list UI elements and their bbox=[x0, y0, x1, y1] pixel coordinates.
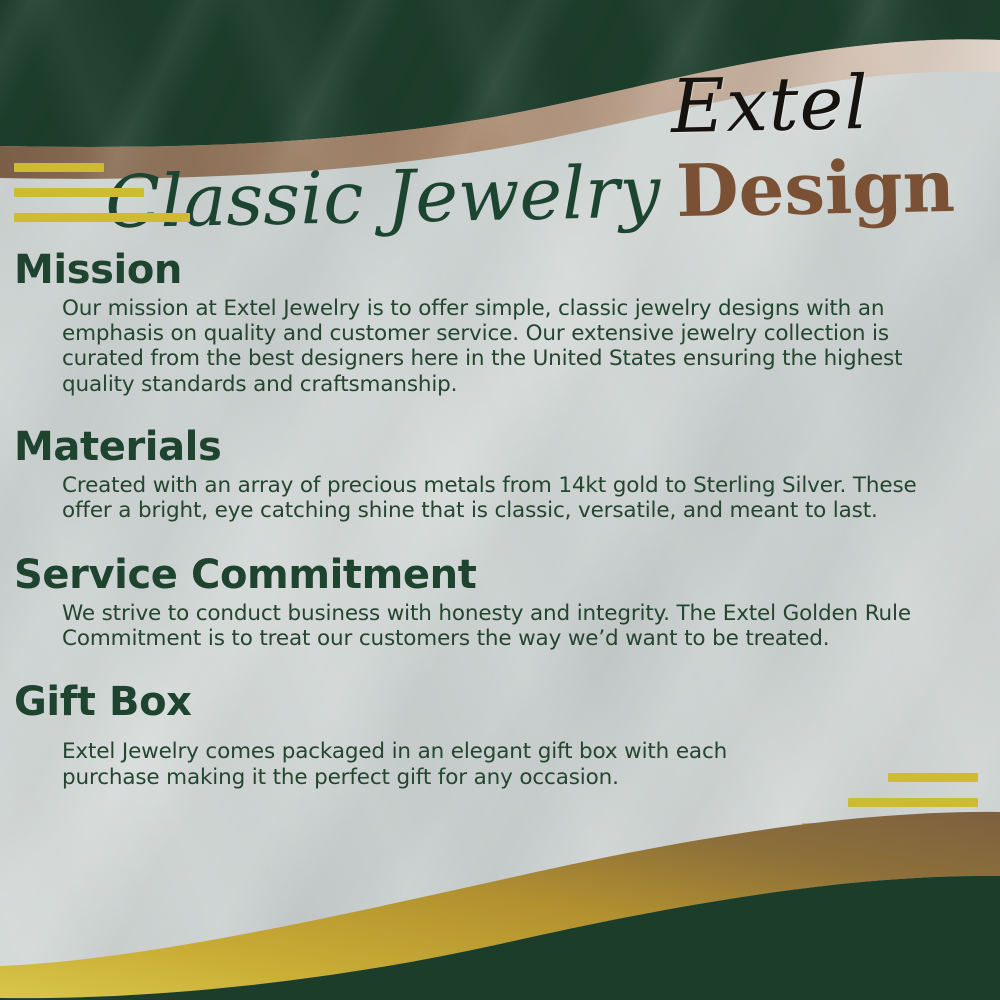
section-service-commitment: Service Commitment We strive to conduct … bbox=[0, 553, 1000, 651]
title-design: Design bbox=[675, 143, 955, 233]
section-heading: Service Commitment bbox=[14, 553, 1000, 599]
brand-script-logo: Extel bbox=[599, 64, 940, 145]
decorative-lines-top-left bbox=[14, 163, 190, 238]
section-body: Our mission at Extel Jewelry is to offer… bbox=[62, 296, 972, 397]
section-materials: Materials Created with an array of preci… bbox=[0, 425, 1000, 523]
section-heading: Mission bbox=[14, 248, 1000, 294]
section-mission: Mission Our mission at Extel Jewelry is … bbox=[0, 248, 1000, 397]
section-body: We strive to conduct business with hones… bbox=[62, 601, 972, 652]
bottom-wave-decoration bbox=[0, 770, 1000, 1000]
section-heading: Materials bbox=[14, 425, 1000, 471]
content-sections: Mission Our mission at Extel Jewelry is … bbox=[0, 248, 1000, 794]
decorative-line bbox=[14, 213, 190, 222]
decorative-line bbox=[14, 163, 104, 172]
decorative-line bbox=[14, 188, 144, 197]
section-heading: Gift Box bbox=[14, 680, 1000, 726]
section-body: Created with an array of precious metals… bbox=[62, 473, 972, 524]
poster-canvas: Extel Classic JewelryDesign Mission Our … bbox=[0, 0, 1000, 1000]
